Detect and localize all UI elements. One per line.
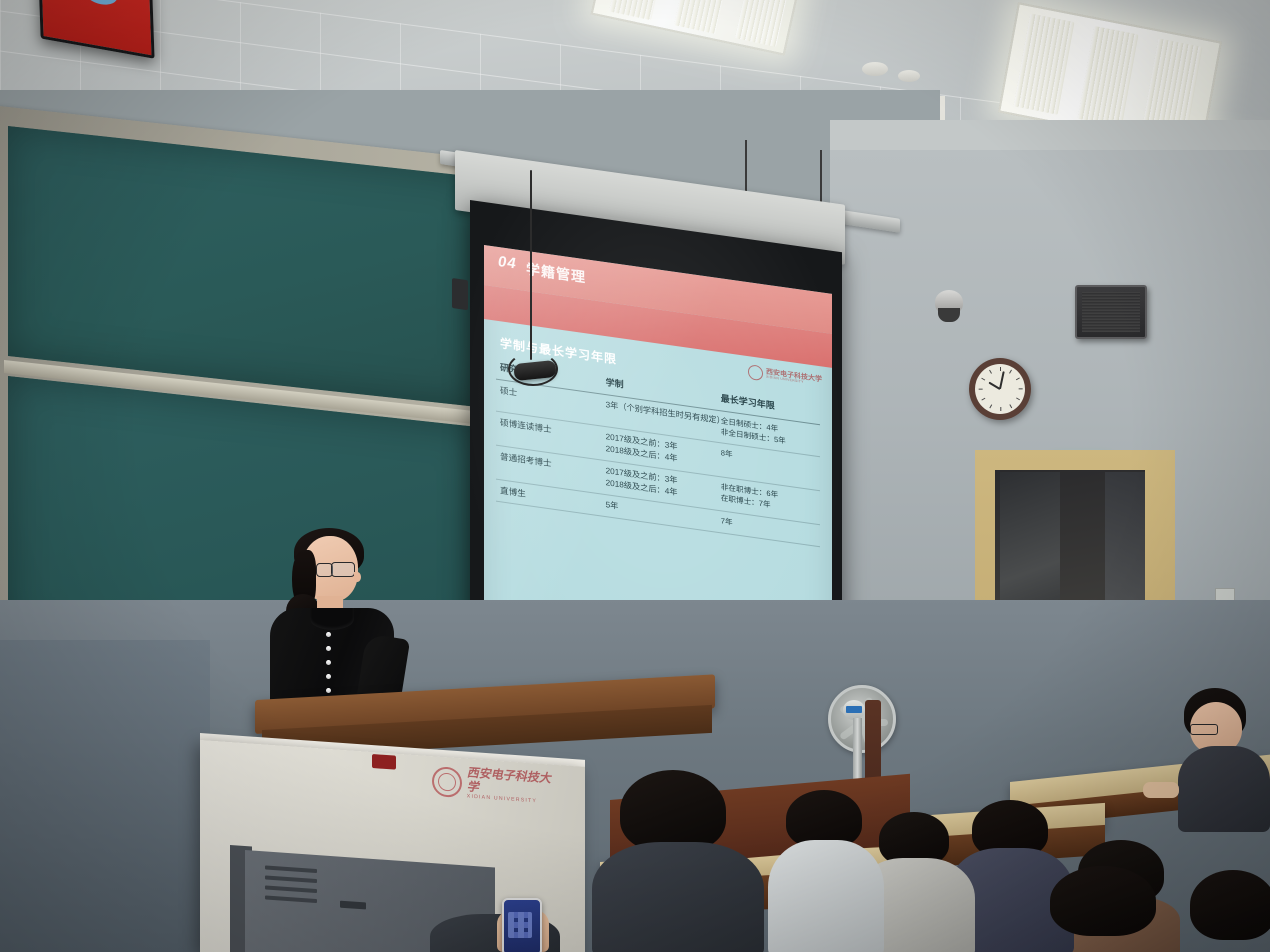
- student-laptop-hand: [1143, 782, 1179, 798]
- ceiling-sensor-icon: [898, 70, 920, 82]
- student-white-shirt: [768, 790, 884, 952]
- university-seal-icon: [748, 364, 763, 381]
- cabinet-handle: [340, 901, 366, 910]
- university-seal-icon: [432, 766, 462, 798]
- podium-logo-text: 西安电子科技大学 XIDIAN UNIVERSITY: [467, 767, 562, 807]
- phone-screen-icons: [508, 912, 532, 938]
- student-front-right: [1030, 866, 1180, 952]
- university-name: 西安电子科技大学 XIDIAN UNIVERSITY: [766, 369, 822, 387]
- presenter-profile: [354, 572, 361, 582]
- student-torso: [768, 840, 884, 952]
- student-far-right-front: [1190, 866, 1270, 952]
- podium-indicator: [372, 754, 396, 770]
- slide-section-number: 04: [498, 253, 517, 273]
- podium-logo-en: XIDIAN UNIVERSITY: [467, 794, 562, 807]
- lower-wall-left: [0, 640, 210, 952]
- slide-table: 研究生类型 学制 最长学习年限 硕士 3年（个别学科招生时另有规定） 全日制硕士…: [496, 357, 820, 548]
- glasses-icon: [1190, 724, 1218, 735]
- student-hair: [620, 770, 726, 852]
- podium-microphone-wire: [530, 170, 532, 360]
- wall-fan[interactable]: [828, 685, 896, 753]
- smoke-detector-icon: [862, 62, 888, 76]
- student-dark-shirt: [592, 770, 764, 952]
- podium-university-logo: 西安电子科技大学 XIDIAN UNIVERSITY: [432, 760, 562, 811]
- fan-brand-badge: [846, 706, 862, 713]
- lecture-hall-scene: 04 学籍管理 学制与最长学习年限 西安电子科技大学 XIDIAN UNIVER…: [0, 0, 1270, 952]
- student-hair: [1050, 866, 1156, 936]
- podium-logo-cn: 西安电子科技大学: [467, 766, 551, 795]
- sign-graphic: [83, 0, 118, 7]
- speaker-grill: [1082, 292, 1140, 332]
- wall-speaker: [1075, 285, 1147, 339]
- slide-section-title: 学籍管理: [526, 259, 586, 287]
- clock-minute-hand: [999, 371, 1005, 389]
- presenter-collar: [310, 608, 354, 630]
- student-right-far: [1178, 688, 1270, 828]
- slide-university-logo: 西安电子科技大学 XIDIAN UNIVERSITY: [748, 364, 822, 389]
- dome-camera-lens: [938, 308, 960, 322]
- student-torso: [592, 842, 764, 952]
- student-torso: [1178, 746, 1270, 832]
- clock-face: [975, 364, 1025, 414]
- wall-speaker-left: [452, 278, 468, 310]
- student-hair: [1190, 870, 1270, 940]
- glasses-lens-icon: [331, 562, 355, 577]
- wall-clock: [969, 358, 1031, 420]
